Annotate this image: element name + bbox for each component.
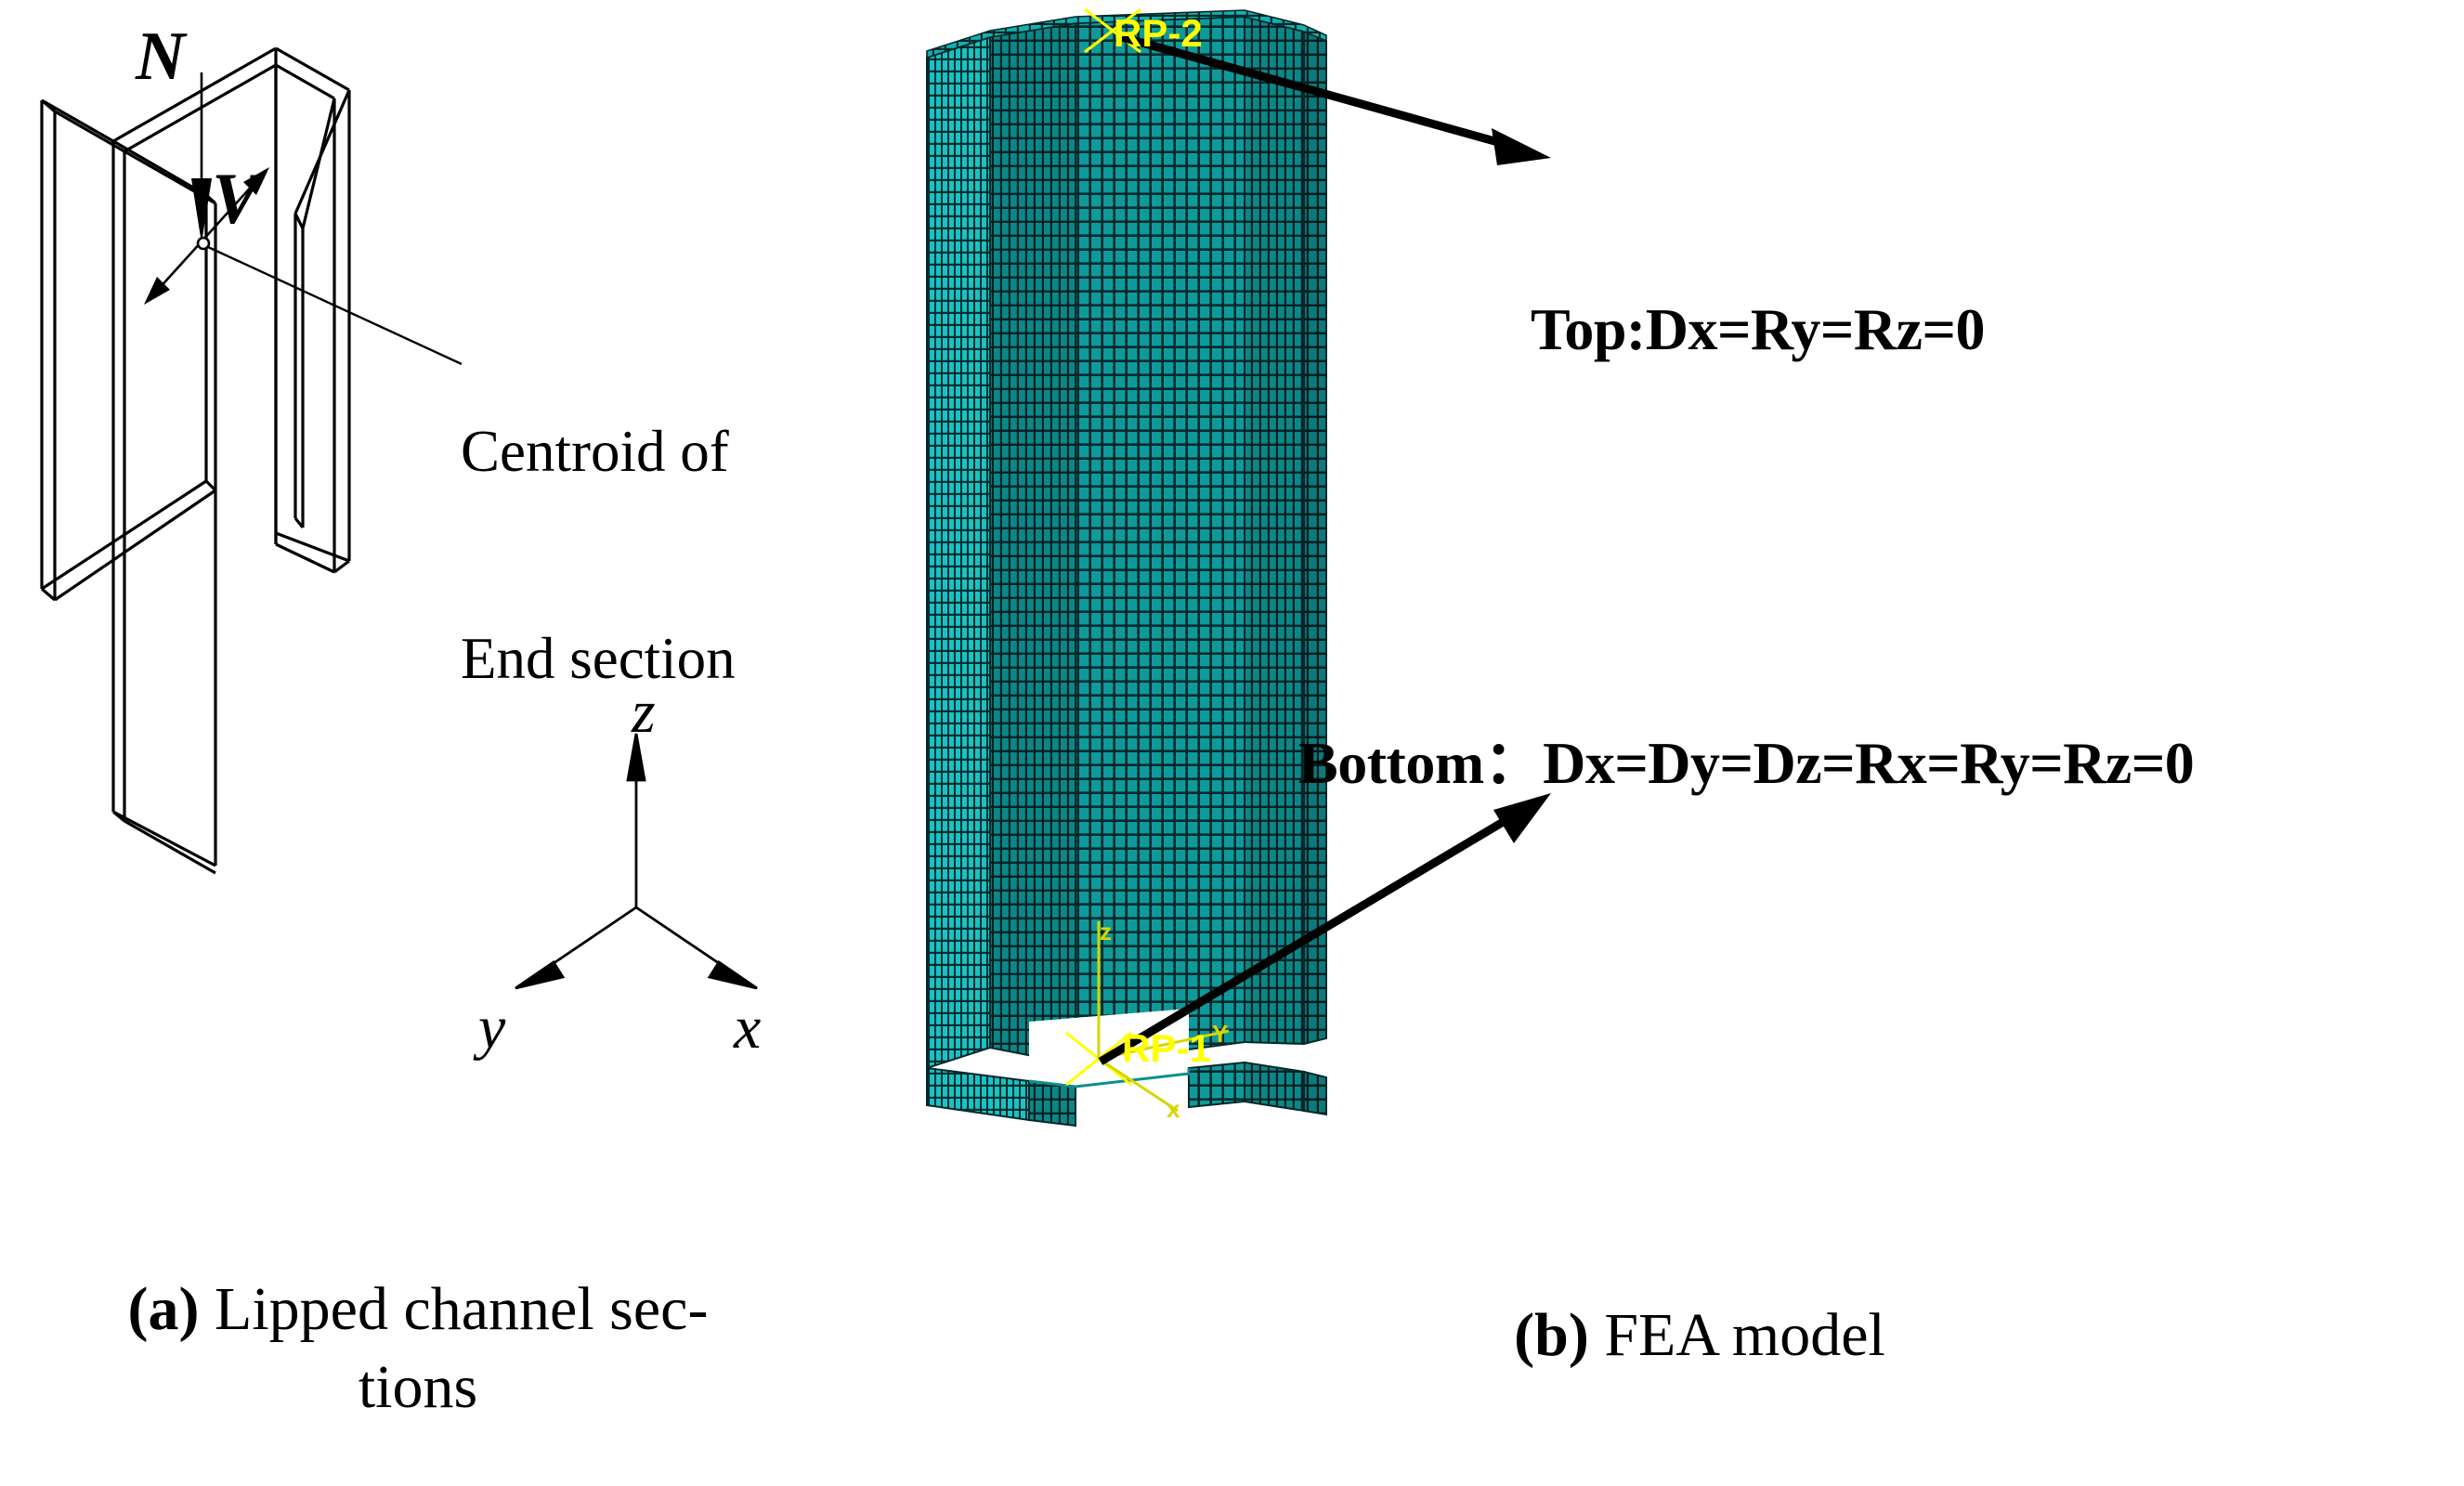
centroid-marker-circle <box>198 238 209 249</box>
mesh-right-flange-face <box>1245 17 1304 1044</box>
centroid-note: Centroid of End section <box>461 279 736 831</box>
rp1-label: RP-1 <box>1122 1026 1211 1071</box>
axis-label-x: x <box>734 992 761 1064</box>
caption-b-text: FEA model <box>1589 1301 1885 1369</box>
caption-a: (a) Lipped channel sec- tions <box>0 1271 836 1427</box>
boundary-condition-bottom: Bottom：Dx=Dy=Dz=Rx=Ry=Rz=0 <box>1298 715 2194 801</box>
mesh-left-flange-face <box>990 23 1076 1064</box>
figure-canvas: N V Centroid of End section z y x <box>0 0 2464 1486</box>
rp2-label: RP-2 <box>1114 11 1203 56</box>
triad-label-z: z <box>1100 918 1112 946</box>
mesh-right-lip-face <box>1304 32 1326 1044</box>
axis-label-y: y <box>478 992 505 1064</box>
caption-a-line2: tions <box>0 1349 836 1427</box>
caption-a-text1: Lipped channel sec- <box>200 1275 709 1343</box>
mesh-web-face <box>1076 17 1245 1064</box>
mesh-left-lip-face <box>927 37 990 1068</box>
triad-label-x: x <box>1167 1095 1180 1124</box>
boundary-condition-top: Top:Dx=Ry=Rz=0 <box>1531 295 1985 364</box>
panel-b-fea-model <box>910 0 2464 1170</box>
axis-label-z: z <box>632 676 656 749</box>
fea-mesh-model <box>910 0 2464 1170</box>
lipped-channel-final <box>0 0 910 1170</box>
mesh-bottom-left-leg <box>927 1068 1029 1120</box>
triad-label-y: Y <box>1212 1020 1228 1049</box>
axial-load-label-N: N <box>136 17 185 98</box>
mesh-bottom-left-leg-side <box>1029 1081 1076 1126</box>
centroid-note-line2: End section <box>461 624 736 693</box>
eccentricity-label-V: V <box>212 156 260 241</box>
mesh-bottom-right-lip <box>1304 1072 1326 1114</box>
panel-a-lipped-channel: N V Centroid of End section z y x <box>0 0 910 1170</box>
caption-a-letter: (a) <box>128 1275 200 1343</box>
centroid-note-line1: Centroid of <box>461 417 736 486</box>
caption-b-letter: (b) <box>1514 1301 1589 1369</box>
mesh-bottom-right-leg-side <box>1245 1062 1304 1111</box>
caption-b: (b) FEA model <box>1347 1300 2053 1371</box>
caption-a-line1: (a) Lipped channel sec- <box>0 1271 836 1349</box>
